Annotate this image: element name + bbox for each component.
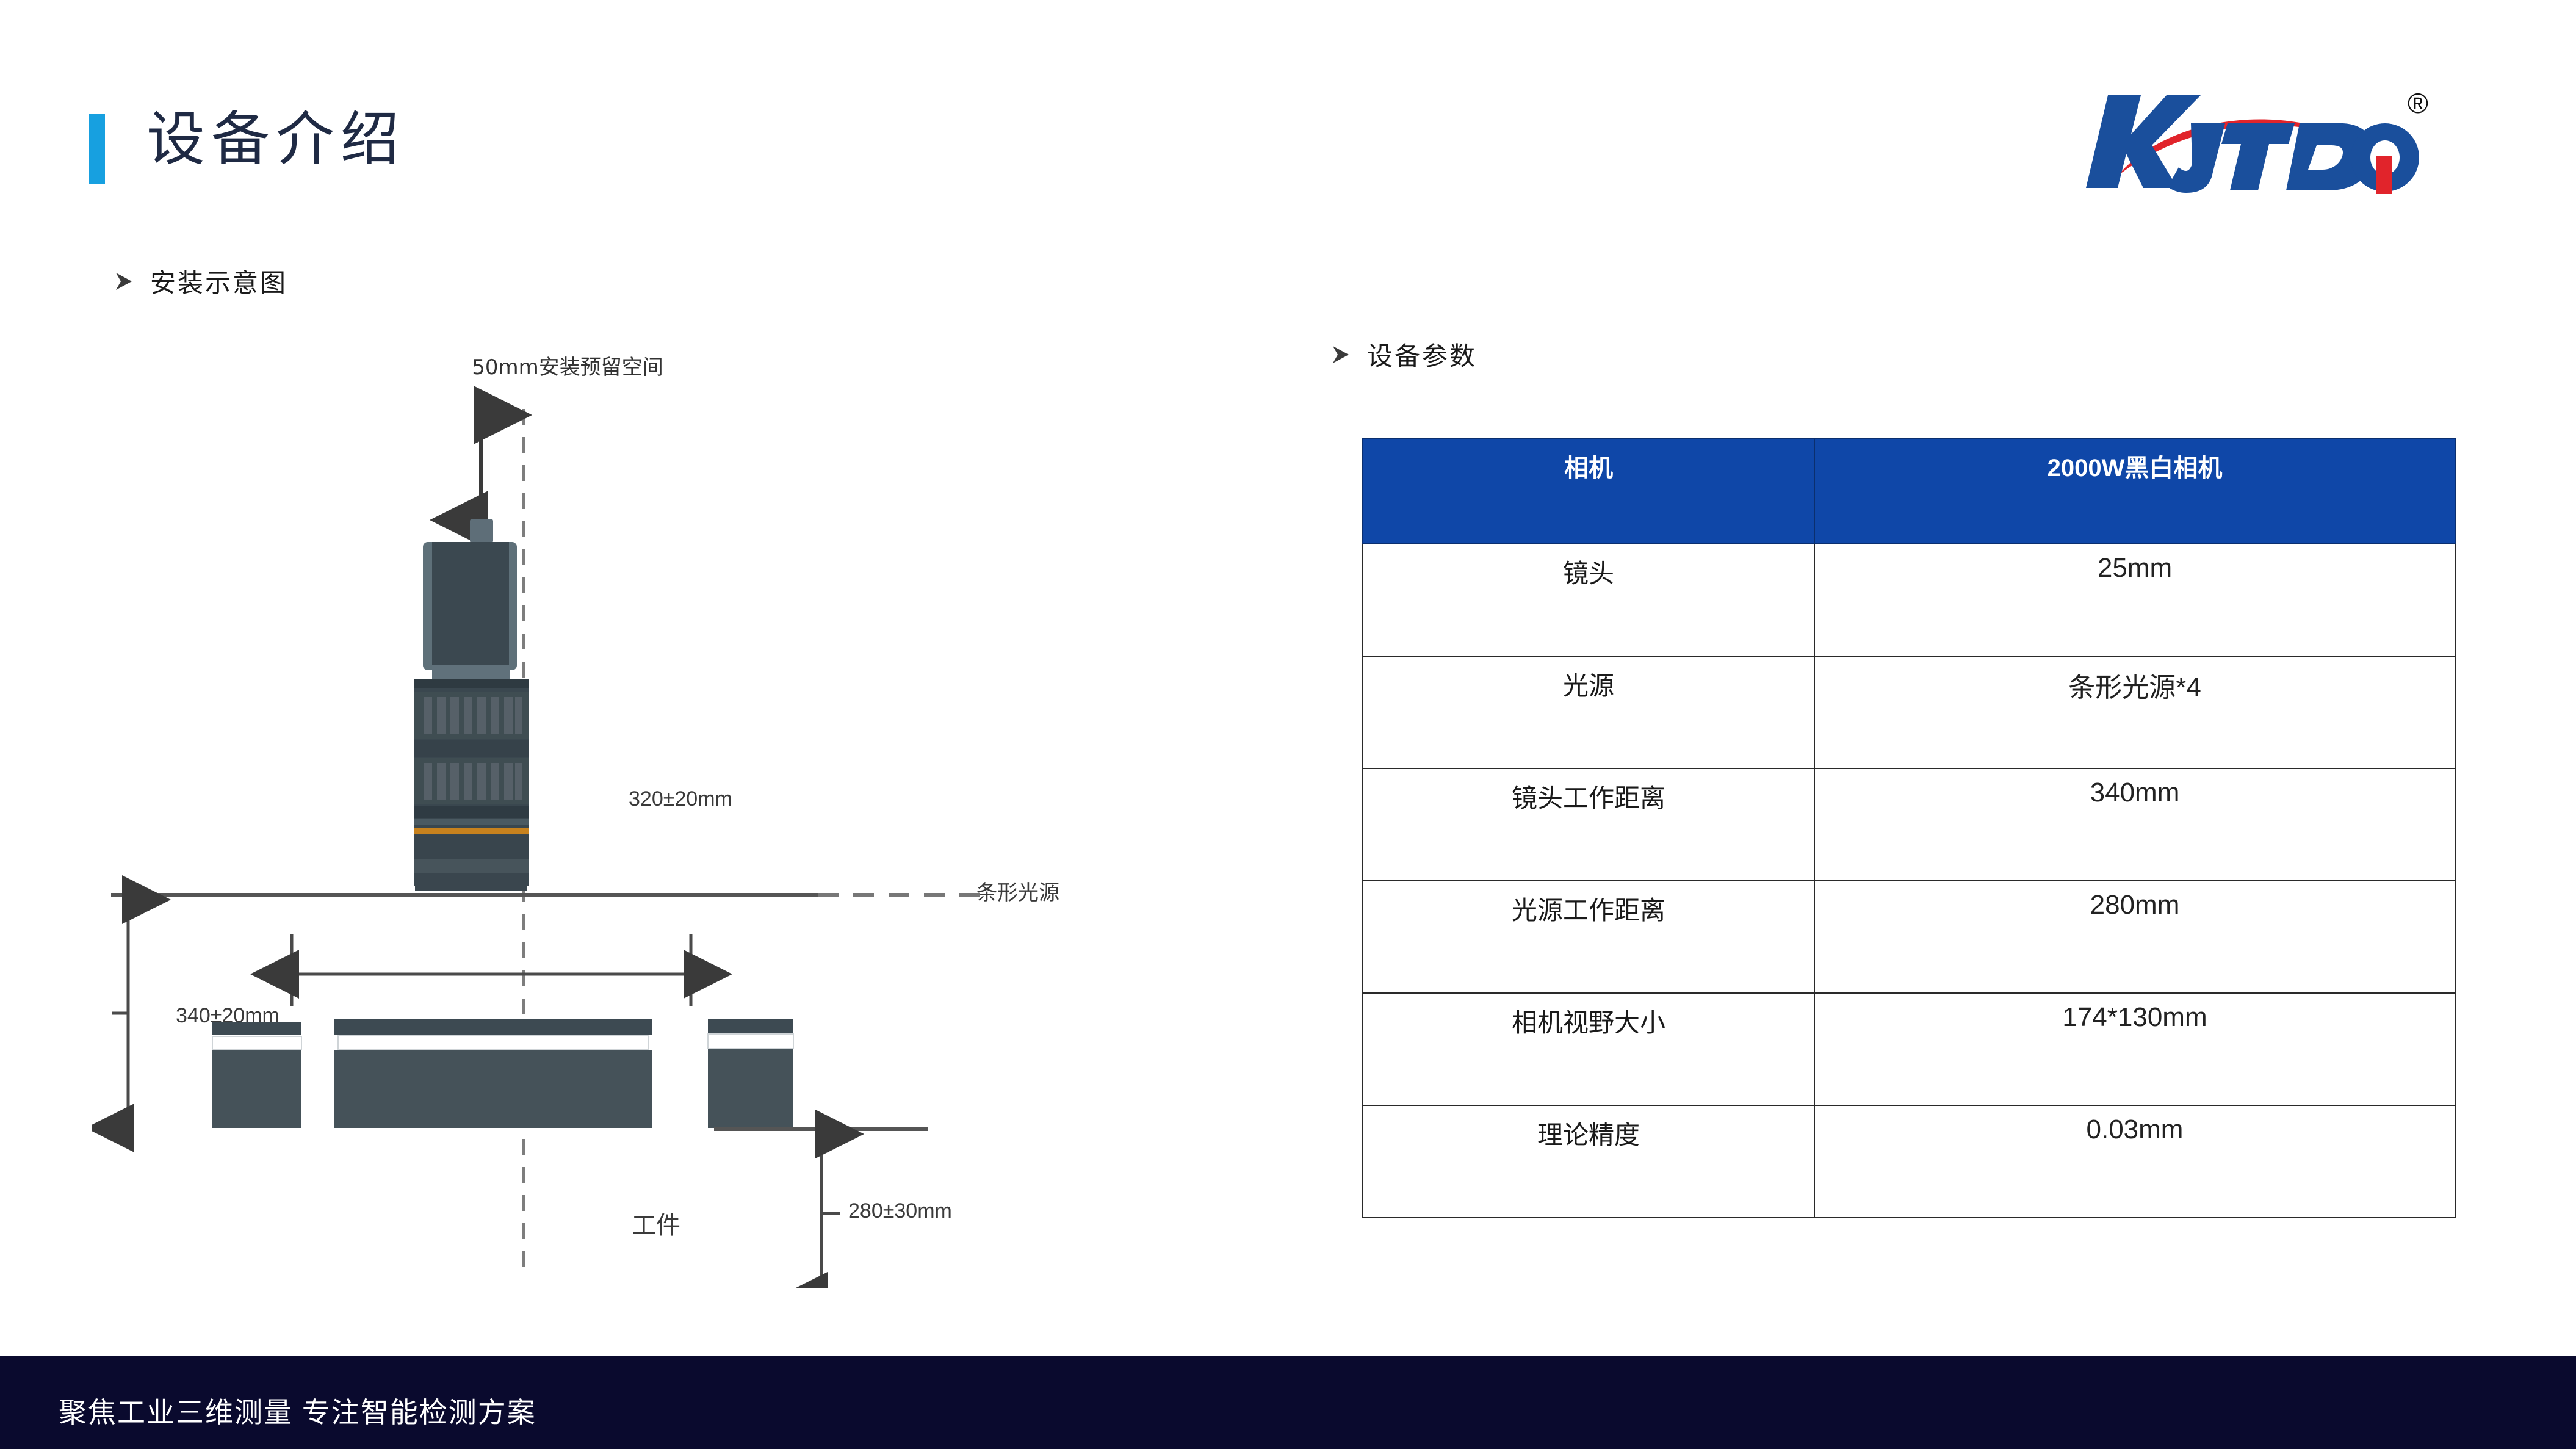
- bar-light-center-body: [334, 1050, 652, 1128]
- table-cell-param: 光源工作距离: [1363, 881, 1814, 993]
- company-logo: [2075, 85, 2466, 195]
- camera-body: [432, 542, 509, 665]
- bar-light-left-emitter: [212, 1036, 301, 1050]
- table-cell-value: 0.03mm: [1814, 1105, 2455, 1218]
- table-cell-value: 280mm: [1814, 881, 2455, 993]
- registered-trademark-icon: ®: [2408, 87, 2428, 120]
- table-cell-param: 相机视野大小: [1363, 993, 1814, 1105]
- table-row: 镜头工作距离 340mm: [1363, 768, 2455, 881]
- lens-band-dark: [414, 806, 529, 818]
- lens-lower-1: [414, 835, 529, 859]
- light-span-label: 320±20mm: [629, 787, 732, 811]
- table-cell-value: 340mm: [1814, 768, 2455, 881]
- kjtdq-logo-icon: [2075, 85, 2466, 195]
- camera-height-label: 340±20mm: [176, 1004, 280, 1028]
- title-accent-bar: [89, 114, 105, 184]
- bar-light-left-body: [212, 1050, 301, 1128]
- lens-front: [415, 873, 527, 891]
- bar-light-label: 条形光源: [976, 876, 1059, 906]
- table-row: 相机视野大小 174*130mm: [1363, 993, 2455, 1105]
- workpiece-label: 工件: [632, 1205, 680, 1241]
- table-row: 镜头 25mm: [1363, 544, 2455, 656]
- lens-band-light: [414, 819, 529, 825]
- clearance-label: 50mm安装预留空间: [464, 354, 671, 382]
- camera-connector: [470, 519, 493, 543]
- table-cell-param: 镜头: [1363, 544, 1814, 656]
- lens-orange-ring: [414, 828, 529, 834]
- table-cell-param: 光源: [1363, 656, 1814, 768]
- lens-top-edge: [414, 679, 529, 688]
- page-title: 设备介绍: [146, 110, 405, 168]
- bullet-install-label: 安装示意图: [150, 262, 287, 300]
- bar-light-center-emitter: [338, 1035, 648, 1050]
- table-header-param: 相机: [1363, 439, 1814, 544]
- table-cell-value: 174*130mm: [1814, 993, 2455, 1105]
- table-cell-value: 条形光源*4: [1814, 656, 2455, 768]
- bar-light-right-top: [708, 1019, 793, 1033]
- light-height-label: 280±30mm: [848, 1199, 952, 1223]
- chevron-right-icon: [114, 271, 134, 292]
- device-parameters-table: 相机 2000W黑白相机 镜头 25mm 光源 条形光源*4 镜头工作距离 34…: [1362, 438, 2456, 1218]
- chevron-right-icon: [1330, 344, 1351, 365]
- bullet-device-params: 设备参数: [1330, 336, 1477, 373]
- table-row: 理论精度 0.03mm: [1363, 1105, 2455, 1218]
- footer-slogan: 聚焦工业三维测量 专注智能检测方案: [59, 1390, 536, 1431]
- table-cell-param: 镜头工作距离: [1363, 768, 1814, 881]
- table-cell-param: 理论精度: [1363, 1105, 1814, 1218]
- bullet-install-diagram: 安装示意图: [114, 262, 287, 300]
- table-header-value: 2000W黑白相机: [1814, 439, 2455, 544]
- lens-mid-band: [414, 740, 529, 757]
- lens-lower-2: [414, 859, 529, 873]
- table-header-row: 相机 2000W黑白相机: [1363, 439, 2455, 544]
- bar-light-right-emitter: [708, 1034, 793, 1049]
- table-row: 光源工作距离 280mm: [1363, 881, 2455, 993]
- bullet-params-label: 设备参数: [1367, 336, 1477, 373]
- table-cell-value: 25mm: [1814, 544, 2455, 656]
- bar-light-center-top: [334, 1019, 652, 1035]
- bar-light-right-body: [708, 1049, 793, 1128]
- table-row: 光源 条形光源*4: [1363, 656, 2455, 768]
